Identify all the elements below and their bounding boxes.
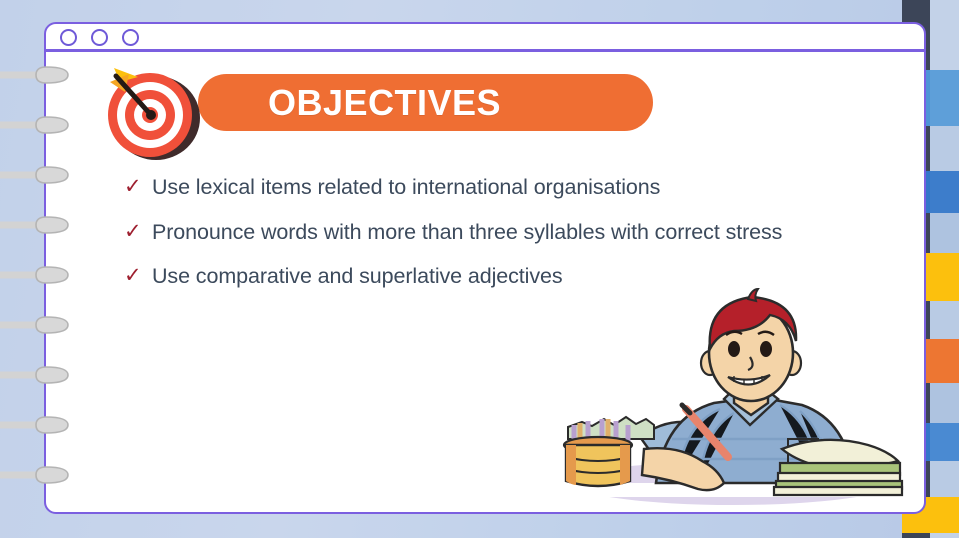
- objective-text: Use lexical items related to internation…: [152, 172, 660, 203]
- window-titlebar: [46, 24, 924, 52]
- check-icon: ✓: [124, 261, 152, 286]
- strip-segment: [925, 301, 959, 339]
- check-icon: ✓: [124, 172, 152, 197]
- strip-segment: [925, 70, 959, 126]
- strip-segment: [925, 423, 959, 461]
- strip-segment: [925, 171, 959, 213]
- strip-segment: [902, 533, 930, 538]
- strip-segment: [925, 213, 959, 253]
- spiral-ring: [36, 167, 68, 183]
- title-banner: OBJECTIVES: [198, 74, 653, 131]
- strip-segment: [925, 383, 959, 423]
- strip-segment: [925, 461, 959, 497]
- boy-studying-at-desk-illustration: [548, 287, 908, 512]
- objective-text: Use comparative and superlative adjectiv…: [152, 261, 562, 292]
- page-title: OBJECTIVES: [268, 82, 501, 124]
- spiral-ring: [36, 367, 68, 383]
- spiral-ring: [36, 117, 68, 133]
- strip-segment: [925, 533, 959, 538]
- strip-segment: [925, 497, 959, 533]
- decorative-color-strip-outer: [925, 0, 959, 538]
- strip-segment: [925, 126, 959, 171]
- check-icon: ✓: [124, 217, 152, 242]
- spiral-ring: [36, 217, 68, 233]
- spiral-ring: [36, 267, 68, 283]
- spiral-ring: [36, 467, 68, 483]
- objective-item: ✓Use lexical items related to internatio…: [124, 172, 884, 203]
- spiral-ring: [36, 317, 68, 333]
- strip-segment: [925, 0, 959, 70]
- objectives-list: ✓Use lexical items related to internatio…: [124, 172, 884, 306]
- spiral-ring: [36, 67, 68, 83]
- objective-item: ✓Pronounce words with more than three sy…: [124, 217, 884, 248]
- stack-of-books: [774, 440, 902, 495]
- objective-text: Pronounce words with more than three syl…: [152, 217, 782, 248]
- strip-segment: [925, 339, 959, 383]
- spiral-notebook-rings: [0, 0, 120, 538]
- spiral-ring: [36, 417, 68, 433]
- window-dot-3[interactable]: [122, 29, 139, 46]
- slide-card: OBJECTIVES ✓Use lexical items related to…: [44, 22, 926, 514]
- strip-segment: [925, 253, 959, 301]
